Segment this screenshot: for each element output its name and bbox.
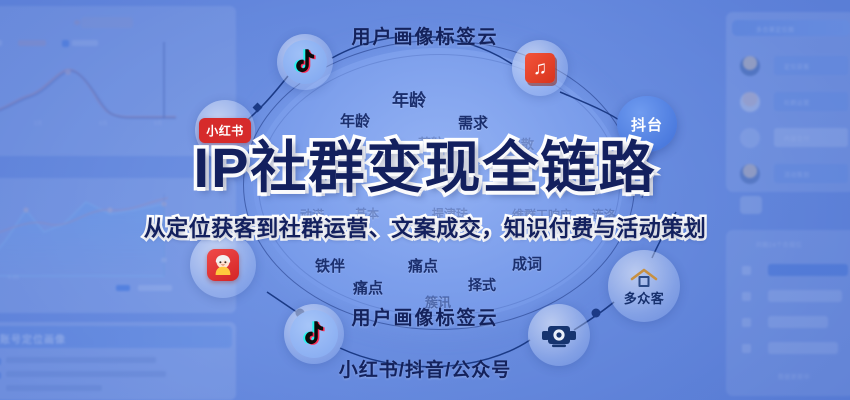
- left-panel-header-label: 账号定位画像: [0, 331, 66, 346]
- list-bar-1: [768, 264, 848, 276]
- area-axis-label: 0.00: [8, 275, 19, 281]
- main-subtitle-wrap: 从定位获客到社群运营、文案成交，知识付费与活动策划: [0, 218, 850, 241]
- axis-tick-4: 9月: [154, 120, 162, 127]
- word-cloud-tag: 痛点: [353, 277, 383, 298]
- avatar-2: [740, 92, 760, 112]
- cloud-title-bottom: 用户画像标签云: [0, 303, 850, 330]
- word-cloud-tag: 铁伴: [315, 255, 345, 276]
- node-redbook[interactable]: [190, 232, 256, 298]
- word-cloud-tag: 年龄: [392, 86, 426, 111]
- avatar-5: [740, 196, 762, 214]
- word-cloud-tag: 痛点: [408, 255, 438, 276]
- axis-tick-2: 3月: [34, 120, 42, 127]
- cloud-title-top: 用户画像标签云: [0, 22, 850, 49]
- redbook-app-icon: [207, 249, 239, 281]
- right-row-label-1: 定位获客: [784, 62, 810, 71]
- list-icon-1: [742, 266, 751, 275]
- platform-line: 小红书/抖音/公众号: [0, 355, 850, 382]
- list-icon-2: [742, 292, 751, 301]
- background-panel-right: 多合渠定位图 定位获客 社群运营 内容交付 活动策划 同期24个合规位 数据更新…: [726, 0, 850, 400]
- area-legend-dot: [116, 285, 130, 291]
- list-icon-4: [742, 344, 751, 353]
- avatar-1: [740, 56, 760, 76]
- page-subtitle: 从定位获客到社群运营、文案成交，知识付费与活动策划: [144, 218, 707, 240]
- tiktok-glyph: [293, 48, 317, 76]
- word-cloud-tag: 需求: [458, 112, 488, 133]
- word-cloud-tag: 年龄: [340, 110, 370, 131]
- house-icon: [629, 267, 659, 289]
- node-doutai-label: 抖台: [631, 114, 663, 135]
- page-title: IP社群变现全链路: [194, 140, 657, 196]
- list-bar-2: [768, 290, 842, 302]
- bullet-text-3: [6, 385, 102, 391]
- redbook-avatar-glyph: [211, 253, 235, 277]
- axis-tick-3: 6月: [99, 120, 107, 127]
- banner-canvas: 1月 3月 6月 9月 0.00 账号定位画像: [0, 0, 850, 400]
- word-cloud-tag: 择式: [468, 275, 496, 295]
- main-title-wrap: IP社群变现全链路: [0, 140, 850, 196]
- right-row-label-2: 社群运营: [784, 98, 810, 107]
- area-legend-label: [138, 285, 172, 291]
- right-list-header: 同期24个合规位: [756, 240, 802, 249]
- word-cloud-tag: 成词: [512, 253, 542, 274]
- list-bar-4: [768, 342, 838, 354]
- music-box-icon: ♫: [525, 53, 555, 83]
